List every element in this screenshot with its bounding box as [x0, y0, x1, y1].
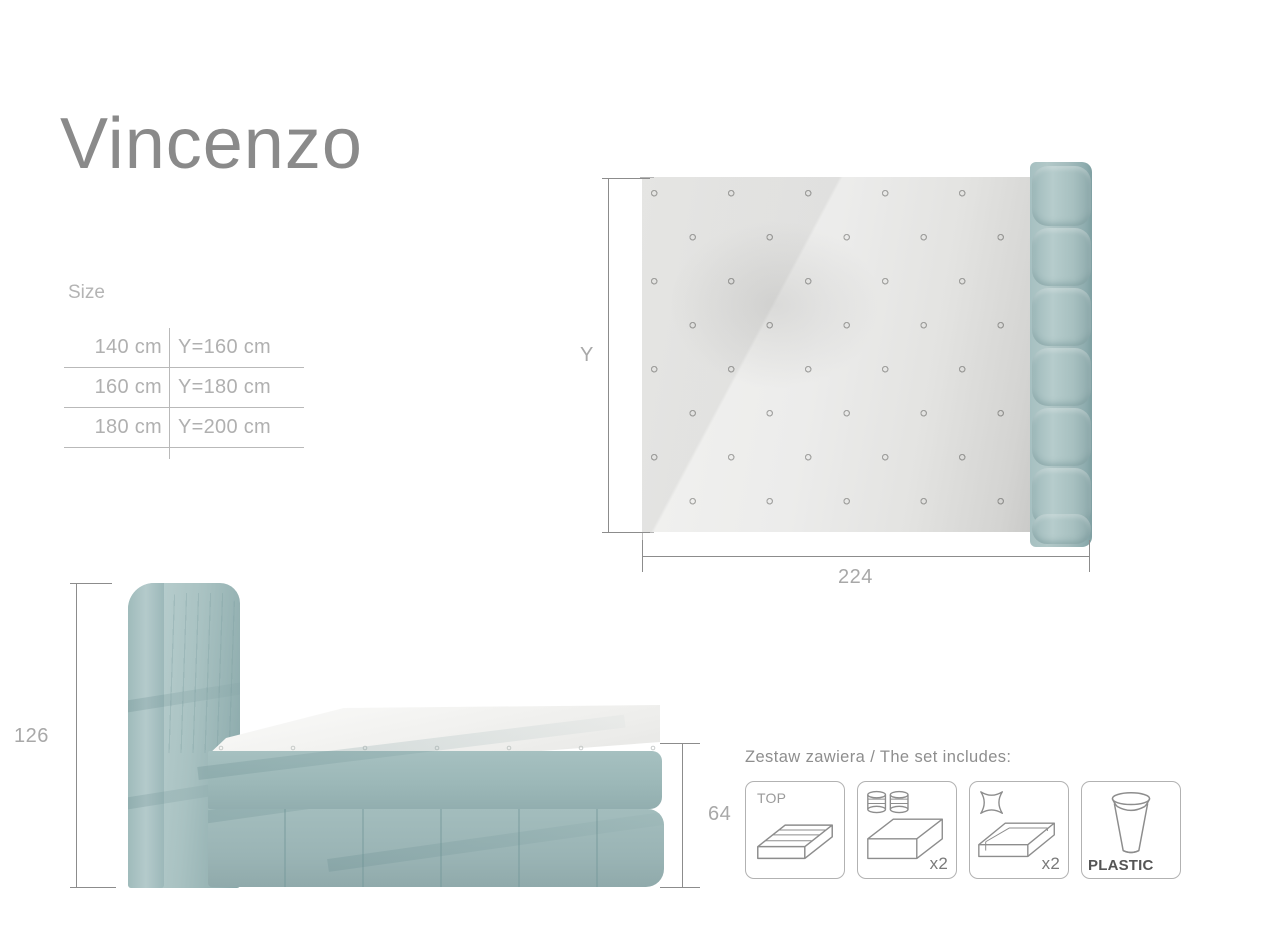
- dim-tick: [70, 583, 112, 584]
- headboard-channel: [1032, 228, 1091, 286]
- headboard-channel: [1032, 288, 1091, 346]
- size-width-cell: 180 cm: [64, 416, 168, 439]
- dim-tick: [70, 887, 116, 888]
- bed-side-view: 126 64: [60, 565, 720, 905]
- pillow-base-icon: x2: [969, 781, 1069, 879]
- table-row: 140 cm Y=160 cm: [64, 328, 304, 368]
- mattress-top-surface: [642, 177, 1034, 532]
- dim-line-width: [642, 556, 1090, 557]
- dim-tick: [660, 743, 700, 744]
- table-row: 160 cm Y=180 cm: [64, 368, 304, 408]
- size-table: 140 cm Y=160 cm 160 cm Y=180 cm 180 cm Y…: [64, 328, 304, 448]
- dim-label-total-height: 126: [14, 725, 49, 748]
- mattress-topper-icon: TOP: [745, 781, 845, 879]
- size-width-cell: 140 cm: [64, 336, 168, 359]
- headboard-channel: [1032, 408, 1091, 466]
- page-title: Vincenzo: [60, 108, 363, 180]
- dim-line-total-height: [76, 583, 77, 887]
- size-length-cell: Y=200 cm: [168, 416, 304, 439]
- set-includes-title: Zestaw zawiera / The set includes:: [745, 748, 1195, 767]
- headboard-top-view: [1030, 162, 1092, 547]
- size-length-cell: Y=180 cm: [168, 376, 304, 399]
- size-width-cell: 160 cm: [64, 376, 168, 399]
- spring-mattress-icon: x2: [857, 781, 957, 879]
- mattress-tuft-dots: [642, 177, 1034, 532]
- dim-tick: [602, 178, 650, 179]
- set-includes-icons: TOP x2: [745, 781, 1195, 879]
- headboard-channel: [1032, 348, 1091, 406]
- base-seam: [518, 809, 520, 887]
- headboard-channels: [162, 593, 236, 753]
- dim-tick: [660, 887, 700, 888]
- bed-base: [208, 809, 664, 887]
- dim-tick: [1089, 540, 1090, 572]
- plastic-label: PLASTIC: [1088, 857, 1154, 874]
- dim-label-y: Y: [580, 344, 594, 367]
- headboard-channel: [1032, 166, 1091, 226]
- dim-label-width: 224: [838, 566, 873, 589]
- dim-label-base-height: 64: [708, 803, 731, 826]
- shadow-stripe: [327, 809, 664, 872]
- set-includes-section: Zestaw zawiera / The set includes: TOP: [745, 748, 1195, 879]
- quantity-label: x2: [1042, 854, 1060, 874]
- dim-line-base-height: [682, 743, 683, 887]
- plastic-leg-icon: PLASTIC: [1081, 781, 1181, 879]
- topper-label: TOP: [757, 790, 786, 806]
- headboard-channel: [1032, 514, 1091, 544]
- dim-line-y: [608, 178, 609, 532]
- bed-top-view: Y 224: [560, 150, 1120, 610]
- quantity-label: x2: [930, 854, 948, 874]
- base-seam: [284, 809, 286, 887]
- base-seam: [362, 809, 364, 887]
- headboard-front-edge: [128, 583, 164, 888]
- table-row: 180 cm Y=200 cm: [64, 408, 304, 448]
- size-heading: Size: [68, 282, 105, 304]
- size-length-cell: Y=160 cm: [168, 336, 304, 359]
- mattress-body: [208, 751, 662, 809]
- product-spec-sheet: Vincenzo Size 140 cm Y=160 cm 160 cm Y=1…: [0, 0, 1280, 947]
